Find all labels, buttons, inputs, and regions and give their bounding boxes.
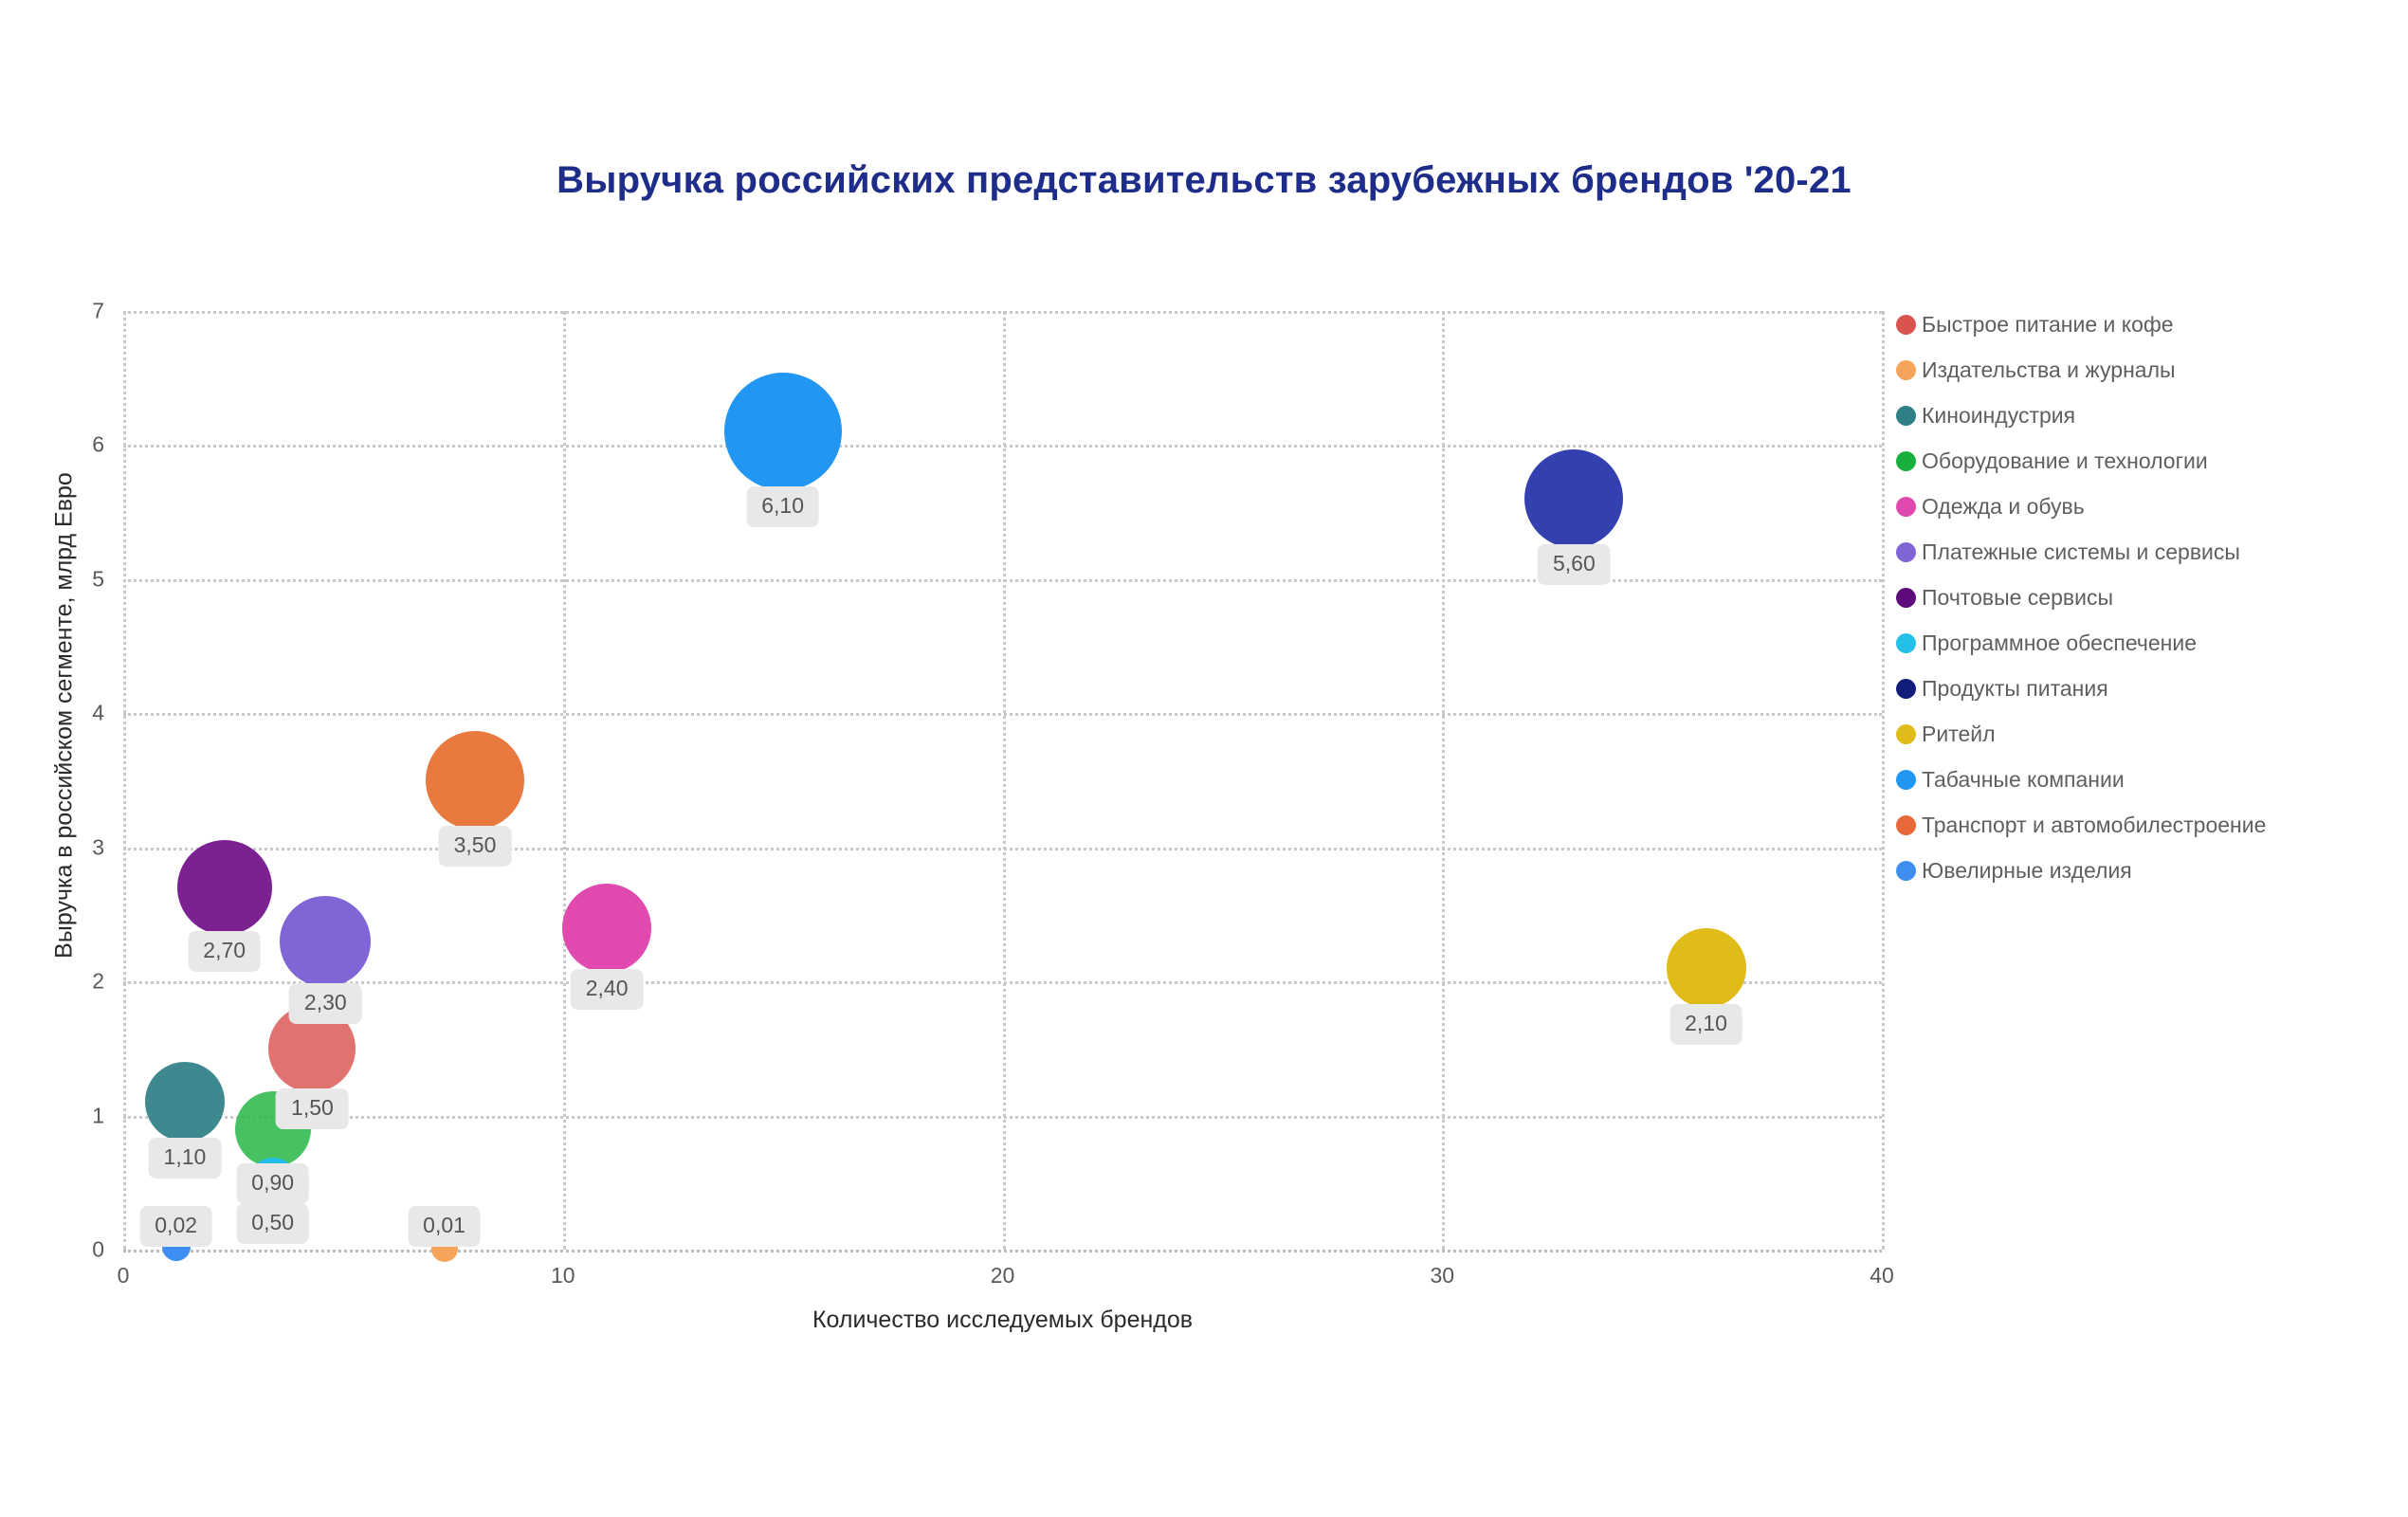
legend-item-7[interactable]: Программное обеспечение bbox=[1896, 620, 2389, 666]
legend-swatch-icon bbox=[1896, 770, 1916, 790]
legend-item-10[interactable]: Табачные компании bbox=[1896, 757, 2389, 802]
legend-swatch-icon bbox=[1896, 724, 1916, 744]
chart-canvas: Выручка российских представительств зару… bbox=[0, 0, 2408, 1517]
bubble-8[interactable] bbox=[1524, 449, 1623, 548]
legend-item-5[interactable]: Платежные системы и сервисы bbox=[1896, 529, 2389, 575]
legend-label: Оборудование и технологии bbox=[1922, 448, 2208, 474]
legend-label: Табачные компании bbox=[1922, 767, 2125, 793]
legend-swatch-icon bbox=[1896, 360, 1916, 380]
x-tick-10: 10 bbox=[525, 1263, 601, 1289]
legend-swatch-icon bbox=[1896, 815, 1916, 835]
bubble-6[interactable] bbox=[177, 840, 272, 935]
legend-label: Платежные системы и сервисы bbox=[1922, 539, 2240, 565]
bubble-label-8: 5,60 bbox=[1538, 544, 1611, 585]
bubble-label-2: 1,10 bbox=[149, 1138, 222, 1179]
gridline-v-30 bbox=[1442, 311, 1445, 1250]
y-tick-0: 0 bbox=[57, 1237, 104, 1263]
legend-label: Программное обеспечение bbox=[1922, 631, 2197, 656]
x-tick-30: 30 bbox=[1404, 1263, 1480, 1289]
legend-item-6[interactable]: Почтовые сервисы bbox=[1896, 575, 2389, 620]
legend-item-12[interactable]: Ювелирные изделия bbox=[1896, 848, 2389, 893]
bubble-4[interactable] bbox=[562, 884, 651, 973]
legend-label: Ювелирные изделия bbox=[1922, 858, 2132, 884]
legend-swatch-icon bbox=[1896, 588, 1916, 608]
x-axis-line bbox=[123, 1250, 1882, 1252]
y-tick-7: 7 bbox=[57, 299, 104, 324]
legend-swatch-icon bbox=[1896, 542, 1916, 562]
gridline-v-20 bbox=[1003, 311, 1006, 1250]
bubble-2[interactable] bbox=[145, 1062, 225, 1142]
legend-label: Почтовые сервисы bbox=[1922, 585, 2113, 611]
legend-label: Продукты питания bbox=[1922, 676, 2108, 702]
legend-swatch-icon bbox=[1896, 633, 1916, 653]
bubble-5[interactable] bbox=[280, 896, 371, 987]
gridline-v-40 bbox=[1882, 311, 1885, 1250]
legend-label: Транспорт и автомобилестроение bbox=[1922, 813, 2266, 838]
bubble-9[interactable] bbox=[1667, 928, 1746, 1008]
chart-title: Выручка российских представительств зару… bbox=[0, 159, 2408, 202]
legend-item-2[interactable]: Киноиндустрия bbox=[1896, 393, 2389, 438]
x-tick-20: 20 bbox=[965, 1263, 1041, 1289]
x-tick-0: 0 bbox=[85, 1263, 161, 1289]
legend-item-8[interactable]: Продукты питания bbox=[1896, 666, 2389, 711]
bubble-label-6: 2,70 bbox=[188, 931, 261, 972]
legend-item-1[interactable]: Издательства и журналы bbox=[1896, 347, 2389, 393]
gridline-v-10 bbox=[563, 311, 566, 1250]
legend-swatch-icon bbox=[1896, 406, 1916, 426]
bubble-label-7: 0,50 bbox=[236, 1203, 309, 1244]
bubble-label-5: 2,30 bbox=[289, 983, 362, 1024]
legend-label: Быстрое питание и кофе bbox=[1922, 312, 2174, 338]
legend: Быстрое питание и кофеИздательства и жур… bbox=[1896, 302, 2389, 893]
legend-swatch-icon bbox=[1896, 451, 1916, 471]
legend-item-4[interactable]: Одежда и обувь bbox=[1896, 484, 2389, 529]
plot-area: 1,500,011,100,902,402,302,700,505,602,10… bbox=[123, 311, 1882, 1250]
y-tick-1: 1 bbox=[57, 1103, 104, 1128]
legend-item-11[interactable]: Транспорт и автомобилестроение bbox=[1896, 802, 2389, 848]
bubble-label-12: 0,02 bbox=[139, 1206, 212, 1247]
bubble-label-1: 0,01 bbox=[408, 1206, 481, 1247]
legend-item-0[interactable]: Быстрое питание и кофе bbox=[1896, 302, 2389, 347]
bubble-10[interactable] bbox=[724, 373, 842, 490]
x-axis-title: Количество исследуемых брендов bbox=[123, 1307, 1882, 1334]
gridline-v-0 bbox=[123, 311, 126, 1250]
legend-item-9[interactable]: Ритейл bbox=[1896, 711, 2389, 757]
bubble-11[interactable] bbox=[426, 731, 524, 830]
bubble-label-4: 2,40 bbox=[571, 969, 644, 1010]
legend-swatch-icon bbox=[1896, 497, 1916, 517]
legend-label: Ритейл bbox=[1922, 722, 1996, 747]
legend-item-3[interactable]: Оборудование и технологии bbox=[1896, 438, 2389, 484]
bubble-label-0: 1,50 bbox=[276, 1088, 349, 1129]
y-axis-title: Выручка в российском сегменте, млрд Евро bbox=[51, 337, 79, 1095]
legend-label: Одежда и обувь bbox=[1922, 494, 2085, 520]
x-tick-40: 40 bbox=[1844, 1263, 1920, 1289]
bubble-label-3: 0,90 bbox=[236, 1163, 309, 1204]
bubble-label-11: 3,50 bbox=[439, 826, 512, 867]
legend-swatch-icon bbox=[1896, 315, 1916, 335]
bubble-label-9: 2,10 bbox=[1669, 1004, 1742, 1045]
bubble-label-10: 6,10 bbox=[746, 486, 819, 527]
legend-label: Киноиндустрия bbox=[1922, 403, 2075, 429]
legend-swatch-icon bbox=[1896, 679, 1916, 699]
legend-swatch-icon bbox=[1896, 861, 1916, 881]
legend-label: Издательства и журналы bbox=[1922, 357, 2176, 383]
